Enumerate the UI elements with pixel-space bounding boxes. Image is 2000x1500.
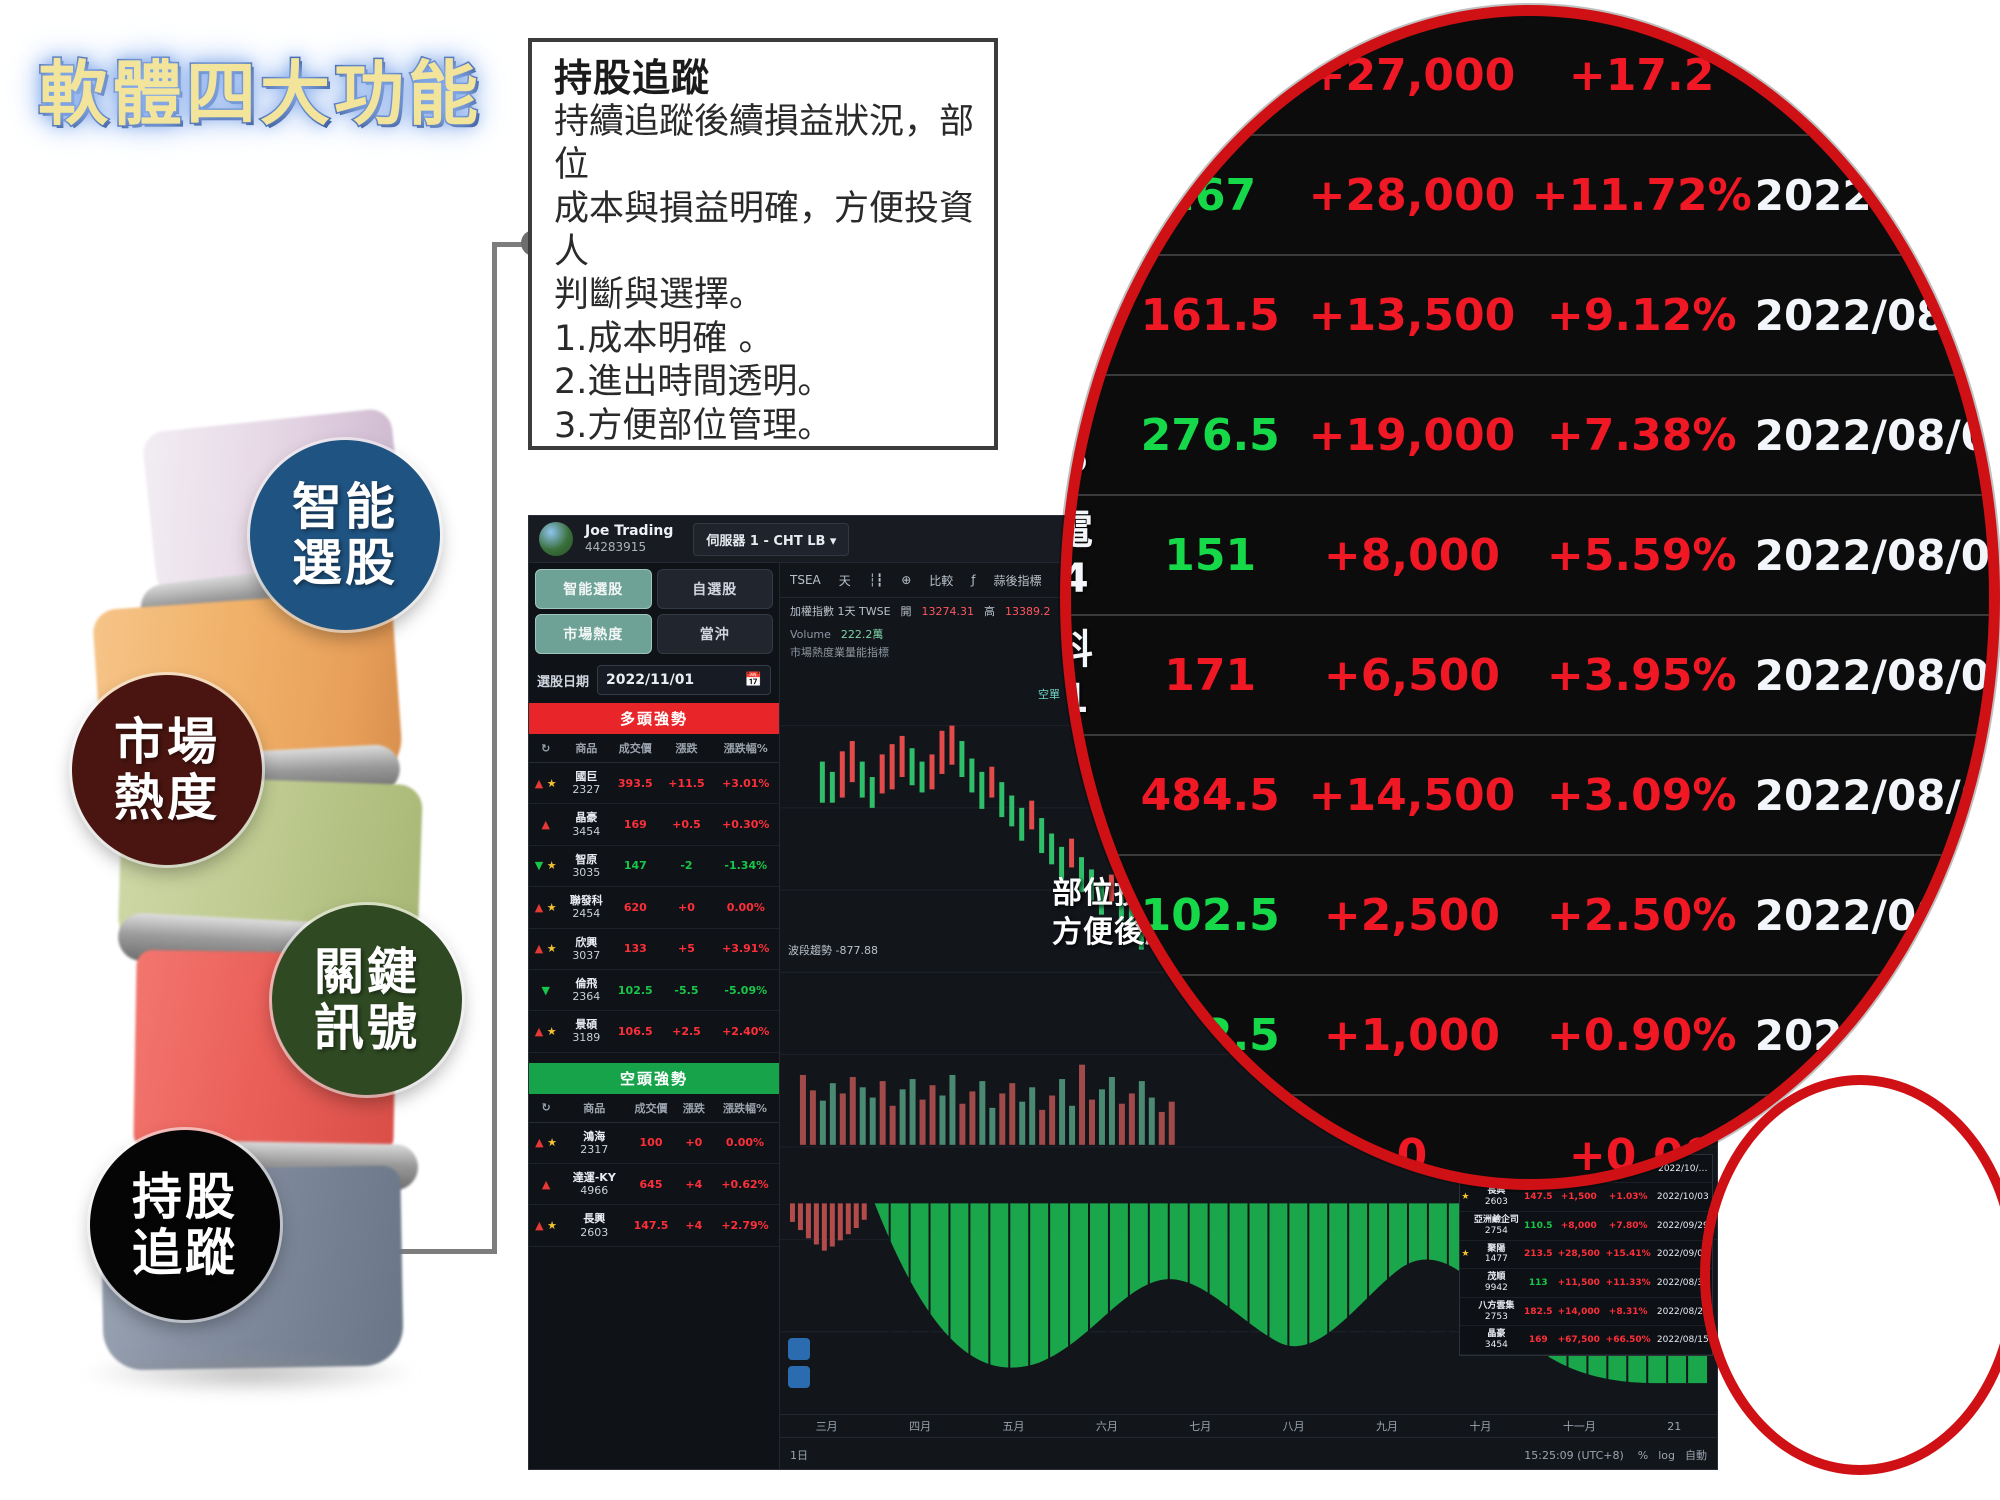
star-icon[interactable]: ★ — [547, 942, 557, 955]
tab-grid: 智能選股 自選股 市場熱度 當沖 — [529, 563, 779, 660]
bear-table: ↻ 商品 成交價 漲跌 漲跌幅% ▲ ★鴻海2317100+00.00%▲ 達運… — [529, 1094, 779, 1247]
row-indicators: ▼ — [529, 969, 562, 1010]
row-pct: +8.31% — [1603, 1297, 1654, 1326]
volume-label: Volume — [790, 628, 831, 641]
star-icon[interactable]: ★ — [547, 1136, 557, 1149]
row-symbol: 達運-KY4966 — [563, 1164, 625, 1205]
arrow-up-icon: ▲ — [541, 818, 549, 831]
row-symbol — [1060, 16, 1125, 135]
row-pct: +2.50% — [1529, 855, 1755, 975]
connector-vertical — [492, 242, 497, 1254]
row-change: +5 — [660, 928, 712, 969]
col-change: 漲跌 — [660, 734, 712, 763]
row-price: 169 — [1522, 1326, 1555, 1355]
table-row[interactable]: ▲ ★欣興3037133+5+3.91% — [529, 928, 779, 969]
row-pct: +17.2 — [1529, 16, 1755, 135]
row-pl: +67,500 — [1555, 1326, 1603, 1355]
row-change: +11.5 — [660, 763, 712, 804]
row-price: 133 — [610, 928, 660, 969]
calendar-icon[interactable]: 📅 — [745, 672, 762, 688]
row-symbol: 智邦2345 — [1060, 375, 1125, 495]
row-indicators: ▲ ★ — [529, 1122, 563, 1163]
row-pct: +11.33% — [1603, 1269, 1654, 1298]
row-date: 2022/08/02 — [1755, 495, 2000, 615]
open-value: 13274.31 — [922, 605, 975, 618]
row-pl: +13,500 — [1295, 255, 1528, 375]
row-symbol: 晶豪3454 — [562, 804, 610, 845]
row-price: 112.5 — [1125, 975, 1295, 1095]
callout-line-1: 持續追蹤後續損益狀況，部位 — [554, 101, 976, 188]
x-axis-ticks: 三月 四月 五月 六月 七月 八月 九月 十月 十一月 21 — [780, 1414, 1717, 1437]
col-price: 成交價 — [625, 1094, 676, 1123]
row-symbol: 鴻海2317 — [563, 1122, 625, 1163]
row-change: +4 — [677, 1205, 711, 1246]
row-price: 393.5 — [610, 763, 660, 804]
list-item[interactable]: ★聚陽1477213.5+28,500+15.41%2022/09/02 — [1460, 1240, 1712, 1269]
row-date: 202 — [1755, 975, 2000, 1095]
row-code: 3189 — [572, 1031, 600, 1044]
row-price: 151 — [1125, 495, 1295, 615]
row-pl: +14,000 — [1555, 1297, 1603, 1326]
row-date: 2022/09/29 — [1654, 1212, 1712, 1241]
table-row[interactable]: 昇達科3491171+6,500+3.95%2022/08/03 — [1060, 615, 2000, 735]
magnified-holdings-table: 184+27,000+17.2…08267+28,000+11.72%2022…… — [1060, 16, 2000, 1190]
row-code: 8114 — [1060, 555, 1125, 604]
row-symbol: 倫飛2364 — [562, 969, 610, 1010]
row-pct: +7.38% — [1529, 375, 1755, 495]
bear-section-header: 空頭強勢 — [529, 1063, 779, 1094]
row-code: 2603 — [580, 1226, 608, 1239]
row-pl: +14,500 — [1295, 735, 1528, 855]
row-star: ★ — [1460, 1240, 1471, 1269]
row-indicators: ▼ ★ — [529, 845, 562, 886]
row-date: 2022/08/27 — [1654, 1297, 1712, 1326]
arrow-up-icon: ▲ — [535, 1219, 543, 1232]
symbol-label[interactable]: TSEA — [790, 573, 821, 587]
row-pl: +28,000 — [1295, 135, 1528, 255]
row-price: 182.5 — [1522, 1297, 1555, 1326]
row-star — [1460, 1269, 1471, 1298]
row-pl: +6,500 — [1295, 615, 1528, 735]
table-row[interactable]: ▲ 晶豪3454169+0.5+0.30% — [529, 804, 779, 845]
callout-heading: 持股追蹤 — [554, 56, 976, 101]
row-code: 4966 — [580, 1184, 608, 1197]
row-date: 2022/08 — [1755, 255, 2000, 375]
timeframe-label[interactable]: 天 — [839, 572, 851, 589]
row-star: ★ — [1460, 1183, 1471, 1212]
account-name: Joe Trading — [585, 523, 673, 541]
table-row[interactable]: …08267+28,000+11.72%2022… — [1060, 135, 2000, 255]
x-tick-5: 八月 — [1283, 1418, 1305, 1434]
row-date: 2022/08/0 — [1755, 375, 2000, 495]
row-star — [1460, 1297, 1471, 1326]
row-price: 645 — [625, 1164, 676, 1205]
row-pct: +66.50% — [1603, 1326, 1654, 1355]
row-date: 2022/10/03 — [1654, 1183, 1712, 1212]
bubble-1-line1: 市場 — [114, 714, 220, 770]
table-row[interactable]: ▲ ★國巨2327393.5+11.5+3.01% — [529, 763, 779, 804]
row-price: 110.5 — [1522, 1212, 1555, 1241]
row-price: 100 — [625, 1122, 676, 1163]
page-title: 軟體四大功能 — [38, 38, 482, 139]
table-row[interactable]: ▲ ★長興2603147.5+4+2.79% — [529, 1205, 779, 1246]
row-change: +2.5 — [660, 1011, 712, 1052]
row-price: 620 — [610, 887, 660, 928]
callout-line-3: 判斷與選擇。 — [554, 274, 976, 317]
row-pl: +11,500 — [1555, 1269, 1603, 1298]
callout-line-2: 成本與損益明確，方便投資人 — [554, 188, 976, 275]
table-row[interactable]: ▲ 達運-KY4966645+4+0.62% — [529, 1164, 779, 1205]
row-price: 171 — [1125, 615, 1295, 735]
row-symbol: 八方雲集2753 — [1471, 1297, 1522, 1326]
arrow-down-icon: ▼ — [541, 984, 549, 997]
row-pct: +7.80% — [1603, 1212, 1654, 1241]
row-symbol: 長興2603 — [563, 1205, 625, 1246]
macd-note: 波段趨勢 -877.88 — [788, 942, 878, 958]
row-price: 276.5 — [1125, 375, 1295, 495]
row-code: 3454 — [572, 825, 600, 838]
bull-table: ↻ 商品 成交價 漲跌 漲跌幅% ▲ ★國巨2327393.5+11.5+3.0… — [529, 734, 779, 1053]
open-label: 開 — [901, 603, 912, 619]
row-price: 169 — [610, 804, 660, 845]
star-icon[interactable]: ★ — [547, 1025, 557, 1038]
magnified-content: 184+27,000+17.2…08267+28,000+11.72%2022…… — [1060, 16, 2000, 1190]
row-code: 2364 — [572, 990, 600, 1003]
arrow-up-icon: ▲ — [535, 777, 543, 790]
refresh-icon[interactable]: ↻ — [529, 734, 562, 763]
table-row[interactable]: 184+27,000+17.2 — [1060, 16, 2000, 135]
row-change: -2 — [660, 845, 712, 886]
row-change: +4 — [677, 1164, 711, 1205]
row-code: 3035 — [572, 866, 600, 879]
row-pct: +3.95% — [1529, 615, 1755, 735]
date-row: 選股日期 2022/11/01 📅 — [529, 660, 779, 703]
col-product: 商品 — [563, 1094, 625, 1123]
high-value: 13389.2 — [1005, 605, 1051, 618]
avatar — [539, 522, 573, 556]
arrow-up-icon: ▲ — [535, 1136, 543, 1149]
row-indicators: ▲ ★ — [529, 928, 562, 969]
row-change-pct: -1.34% — [713, 845, 779, 886]
callout-line-6: 3.方便部位管理。 — [554, 405, 976, 448]
row-symbol: 晶豪3454 — [1471, 1326, 1522, 1355]
row-date: 2022/09/02 — [1654, 1240, 1712, 1269]
row-change-pct: +0.62% — [711, 1164, 779, 1205]
row-change-pct: +3.91% — [713, 928, 779, 969]
bubble-holdings-tracking[interactable]: 持股 追蹤 — [90, 1130, 280, 1320]
row-price: 125 — [1125, 1095, 1295, 1190]
callout-line-5: 2.進出時間透明。 — [554, 361, 976, 404]
volume-value: 222.2萬 — [841, 626, 884, 642]
row-indicators: ▲ — [529, 1164, 563, 1205]
bull-section-header: 多頭強勢 — [529, 703, 779, 734]
bubble-0-line1: 智能 — [292, 479, 398, 535]
row-change-pct: +3.01% — [713, 763, 779, 804]
bubble-2-line2: 訊號 — [314, 1000, 420, 1056]
slide-root: 軟體四大功能 持股追蹤 持續追蹤後續損益狀況，部位 成本與損益明確，方便投資人 … — [0, 0, 2000, 1500]
arrow-down-icon: ▼ — [535, 859, 543, 872]
row-symbol: 景碩3189 — [562, 1011, 610, 1052]
row-change: +0.5 — [660, 804, 712, 845]
date-value: 2022/11/01 — [606, 672, 694, 688]
bubble-key-signal[interactable]: 關鍵 訊號 — [272, 905, 462, 1095]
high-label: 高 — [984, 603, 995, 619]
compare-label[interactable]: 比較 — [929, 572, 953, 589]
callout-box: 持股追蹤 持續追蹤後續損益狀況，部位 成本與損益明確，方便投資人 判斷與選擇。 … — [528, 38, 998, 450]
x-tick-3: 六月 — [1096, 1418, 1118, 1434]
row-code: 3037 — [572, 949, 600, 962]
row-price: 267 — [1125, 135, 1295, 255]
row-price: 102.5 — [1125, 855, 1295, 975]
tab-smart-pick[interactable]: 智能選股 — [535, 569, 652, 609]
bubble-2-line1: 關鍵 — [314, 944, 420, 1000]
col-change: 漲跌 — [677, 1094, 711, 1123]
refresh-icon[interactable]: ↻ — [529, 1094, 563, 1123]
row-indicators: ▲ ★ — [529, 1011, 562, 1052]
row-pct: +0.90% — [1529, 975, 1755, 1095]
row-date: 2022/08/03 — [1755, 615, 2000, 735]
row-change-pct: 0.00% — [713, 887, 779, 928]
cloud-icon[interactable] — [788, 1338, 810, 1360]
alert-icon[interactable] — [788, 1366, 810, 1388]
chart-info-label: 加權指數 1天 TWSE — [790, 603, 891, 619]
row-symbol: 昇達科3491 — [1060, 615, 1125, 735]
table-row[interactable]: ▲ ★景碩3189106.5+2.5+2.40% — [529, 1011, 779, 1052]
col-change-pct: 漲跌幅% — [711, 1094, 779, 1123]
row-change: +0 — [677, 1122, 711, 1163]
row-date: 2022/08/31 — [1654, 1269, 1712, 1298]
row-code: 2454 — [572, 907, 600, 920]
table-row[interactable]: 環球晶6488484.5+14,500+3.09%2022/08/0 — [1060, 735, 2000, 855]
row-price: 213.5 — [1522, 1240, 1555, 1269]
row-indicators: ▲ — [529, 804, 562, 845]
table-row[interactable]: ▲ ★鴻海2317100+00.00% — [529, 1122, 779, 1163]
row-star — [1460, 1212, 1471, 1241]
row-pct: +0.00 — [1529, 1095, 1755, 1190]
row-code: 5483 — [1060, 315, 1125, 364]
indicator-label[interactable]: 蒜後指標 — [994, 572, 1042, 589]
row-price: 184 — [1125, 16, 1295, 135]
row-symbol: 國巨2327 — [562, 763, 610, 804]
row-pct: +11.72% — [1529, 135, 1755, 255]
table-row[interactable]: ▲ ★聯發科2454620+00.00% — [529, 887, 779, 928]
row-symbol: 欣興3037 — [562, 928, 610, 969]
x-tick-7: 十月 — [1469, 1418, 1491, 1434]
row-pct: +15.41% — [1603, 1240, 1654, 1269]
row-date — [1755, 16, 2000, 135]
row-code: …08 — [1060, 171, 1125, 220]
row-symbol: 中美晶5483 — [1060, 255, 1125, 375]
x-tick-9: 21 — [1667, 1420, 1681, 1433]
row-price: 106.5 — [610, 1011, 660, 1052]
row-change: -5.5 — [660, 969, 712, 1010]
tab-day-trade[interactable]: 當沖 — [657, 614, 774, 654]
col-price: 成交價 — [610, 734, 660, 763]
star-icon[interactable]: ★ — [547, 859, 557, 872]
row-symbol: 振樺電8114 — [1060, 495, 1125, 615]
x-tick-1: 四月 — [909, 1418, 931, 1434]
footer-interval[interactable]: 1日 — [790, 1447, 808, 1463]
row-date: 2022/08/0 — [1755, 735, 2000, 855]
x-tick-0: 三月 — [816, 1418, 838, 1434]
x-tick-6: 九月 — [1376, 1418, 1398, 1434]
indicator-icon[interactable]: ƒ — [971, 573, 975, 587]
row-change-pct: 0.00% — [711, 1122, 779, 1163]
list-item[interactable]: 亞洲鹼企司2754110.5+8,000+7.80%2022/09/29 — [1460, 1212, 1712, 1241]
arrow-up-icon: ▲ — [535, 1025, 543, 1038]
magnifier-ellipse: 184+27,000+17.2…08267+28,000+11.72%2022…… — [1060, 5, 2000, 1190]
row-code: 3491 — [1060, 675, 1125, 724]
list-item[interactable]: 茂順9942113+11,500+11.33%2022/08/31 — [1460, 1269, 1712, 1298]
col-change-pct: 漲跌幅% — [713, 734, 779, 763]
chart-footer: 1日 15:25:09 (UTC+8) % log 自動 — [780, 1437, 1717, 1470]
star-icon[interactable]: ★ — [1461, 1192, 1469, 1202]
row-date — [1755, 1095, 2000, 1190]
cylinder-shadow — [80, 1350, 420, 1396]
row-price: 113 — [1522, 1269, 1555, 1298]
row-code: 2317 — [580, 1143, 608, 1156]
row-price: 161.5 — [1125, 255, 1295, 375]
footer-auto-toggle[interactable]: 自動 — [1685, 1447, 1707, 1463]
star-icon[interactable]: ★ — [547, 777, 557, 790]
row-price: 484.5 — [1125, 735, 1295, 855]
row-price: 147.5 — [625, 1205, 676, 1246]
table-row[interactable]: ▼ 倫飛2364102.5-5.5-5.09% — [529, 969, 779, 1010]
left-panel: 智能選股 自選股 市場熱度 當沖 選股日期 2022/11/01 📅 多頭強勢 … — [529, 563, 780, 1470]
row-pct: +5.59% — [1529, 495, 1755, 615]
x-tick-2: 五月 — [1002, 1418, 1024, 1434]
callout-line-4: 1.成本明確 。 — [554, 318, 976, 361]
row-pl: +8,000 — [1555, 1212, 1603, 1241]
row-change-pct: +2.79% — [711, 1205, 779, 1246]
row-pl: +8,000 — [1295, 495, 1528, 615]
bubble-0-line2: 選股 — [292, 535, 398, 591]
row-pct: +1.03% — [1603, 1183, 1654, 1212]
row-change-pct: +0.30% — [713, 804, 779, 845]
row-pct: +9.12% — [1529, 255, 1755, 375]
account-number: 44283915 — [585, 540, 673, 555]
footer-percent-toggle[interactable]: % — [1638, 1449, 1648, 1462]
account-info: Joe Trading 44283915 — [585, 523, 673, 556]
star-icon[interactable]: ★ — [1461, 1249, 1469, 1259]
col-product: 商品 — [562, 734, 610, 763]
row-symbol: …08 — [1060, 135, 1125, 255]
row-symbol: 聚陽1477 — [1471, 1240, 1522, 1269]
table-row[interactable]: 振樺電8114151+8,000+5.59%2022/08/02 — [1060, 495, 2000, 615]
row-date: 2022… — [1755, 135, 2000, 255]
row-pl: +28,500 — [1555, 1240, 1603, 1269]
bubble-1-line2: 熱度 — [114, 770, 220, 826]
bubble-3-line1: 持股 — [132, 1169, 238, 1225]
list-item[interactable]: 八方雲集2753182.5+14,000+8.31%2022/08/27 — [1460, 1297, 1712, 1326]
server-selector[interactable]: 伺服器 1 - CHT LB ▾ — [693, 523, 849, 556]
row-pct: +3.09% — [1529, 735, 1755, 855]
bubble-market-heat[interactable]: 市場 熱度 — [72, 675, 262, 865]
star-icon[interactable]: ★ — [547, 1219, 557, 1232]
row-indicators: ▲ ★ — [529, 1205, 563, 1246]
row-symbol: 聯發科2454 — [562, 887, 610, 928]
arrow-up-icon: ▲ — [535, 942, 543, 955]
table-row[interactable]: ▼ ★智原3035147-2-1.34% — [529, 845, 779, 886]
table-row[interactable]: 中美晶5483161.5+13,500+9.12%2022/08 — [1060, 255, 2000, 375]
row-symbol: 智原3035 — [562, 845, 610, 886]
tab-watchlist[interactable]: 自選股 — [657, 569, 774, 609]
date-label: 選股日期 — [537, 671, 589, 690]
footer-log-toggle[interactable]: log — [1658, 1449, 1675, 1462]
row-pl: +2,500 — [1295, 855, 1528, 975]
row-symbol: 亞洲鹼企司2754 — [1471, 1212, 1522, 1241]
short-signal-label: 空單 — [1038, 686, 1060, 702]
row-pl: +27,000 — [1295, 16, 1528, 135]
row-indicators: ▲ ★ — [529, 763, 562, 804]
x-tick-8: 十一月 — [1563, 1418, 1596, 1434]
table-row[interactable]: 1250+0.00 — [1060, 1095, 2000, 1190]
row-price: 102.5 — [610, 969, 660, 1010]
footer-time: 15:25:09 (UTC+8) — [1524, 1449, 1624, 1462]
row-change-pct: -5.09% — [713, 969, 779, 1010]
table-row[interactable]: 中磊5388102.5+2,500+2.50%2022/08 — [1060, 855, 2000, 975]
arrow-up-icon: ▲ — [535, 901, 543, 914]
date-picker[interactable]: 2022/11/01 📅 — [597, 665, 771, 695]
row-pl: 0 — [1295, 1095, 1528, 1190]
bubble-3-line2: 追蹤 — [132, 1225, 238, 1281]
row-code: 2345 — [1060, 435, 1125, 484]
star-icon[interactable]: ★ — [547, 901, 557, 914]
tab-market-heat[interactable]: 市場熱度 — [535, 614, 652, 654]
row-change-pct: +2.40% — [713, 1011, 779, 1052]
x-tick-4: 七月 — [1189, 1418, 1211, 1434]
row-indicators: ▲ ★ — [529, 887, 562, 928]
row-date: 2022/08 — [1755, 855, 2000, 975]
arrow-up-icon: ▲ — [542, 1178, 550, 1191]
row-star — [1460, 1326, 1471, 1355]
row-price: 147 — [610, 845, 660, 886]
row-pl: +1,000 — [1295, 975, 1528, 1095]
table-row[interactable]: 智邦2345276.5+19,000+7.38%2022/08/0 — [1060, 375, 2000, 495]
row-change: +0 — [660, 887, 712, 928]
list-item[interactable]: 晶豪3454169+67,500+66.50%2022/08/15 — [1460, 1326, 1712, 1355]
row-pl: +19,000 — [1295, 375, 1528, 495]
bubble-smart-stock-picking[interactable]: 智能 選股 — [250, 440, 440, 630]
compare-icon[interactable]: ⊕ — [901, 573, 911, 587]
table-row[interactable]: 鴻海112.5+1,000+0.90%202 — [1060, 975, 2000, 1095]
row-symbol: 茂順9942 — [1471, 1269, 1522, 1298]
row-date: 2022/08/15 — [1654, 1326, 1712, 1355]
row-code: 2327 — [572, 783, 600, 796]
candles-icon[interactable]: ┆┇ — [869, 573, 883, 587]
